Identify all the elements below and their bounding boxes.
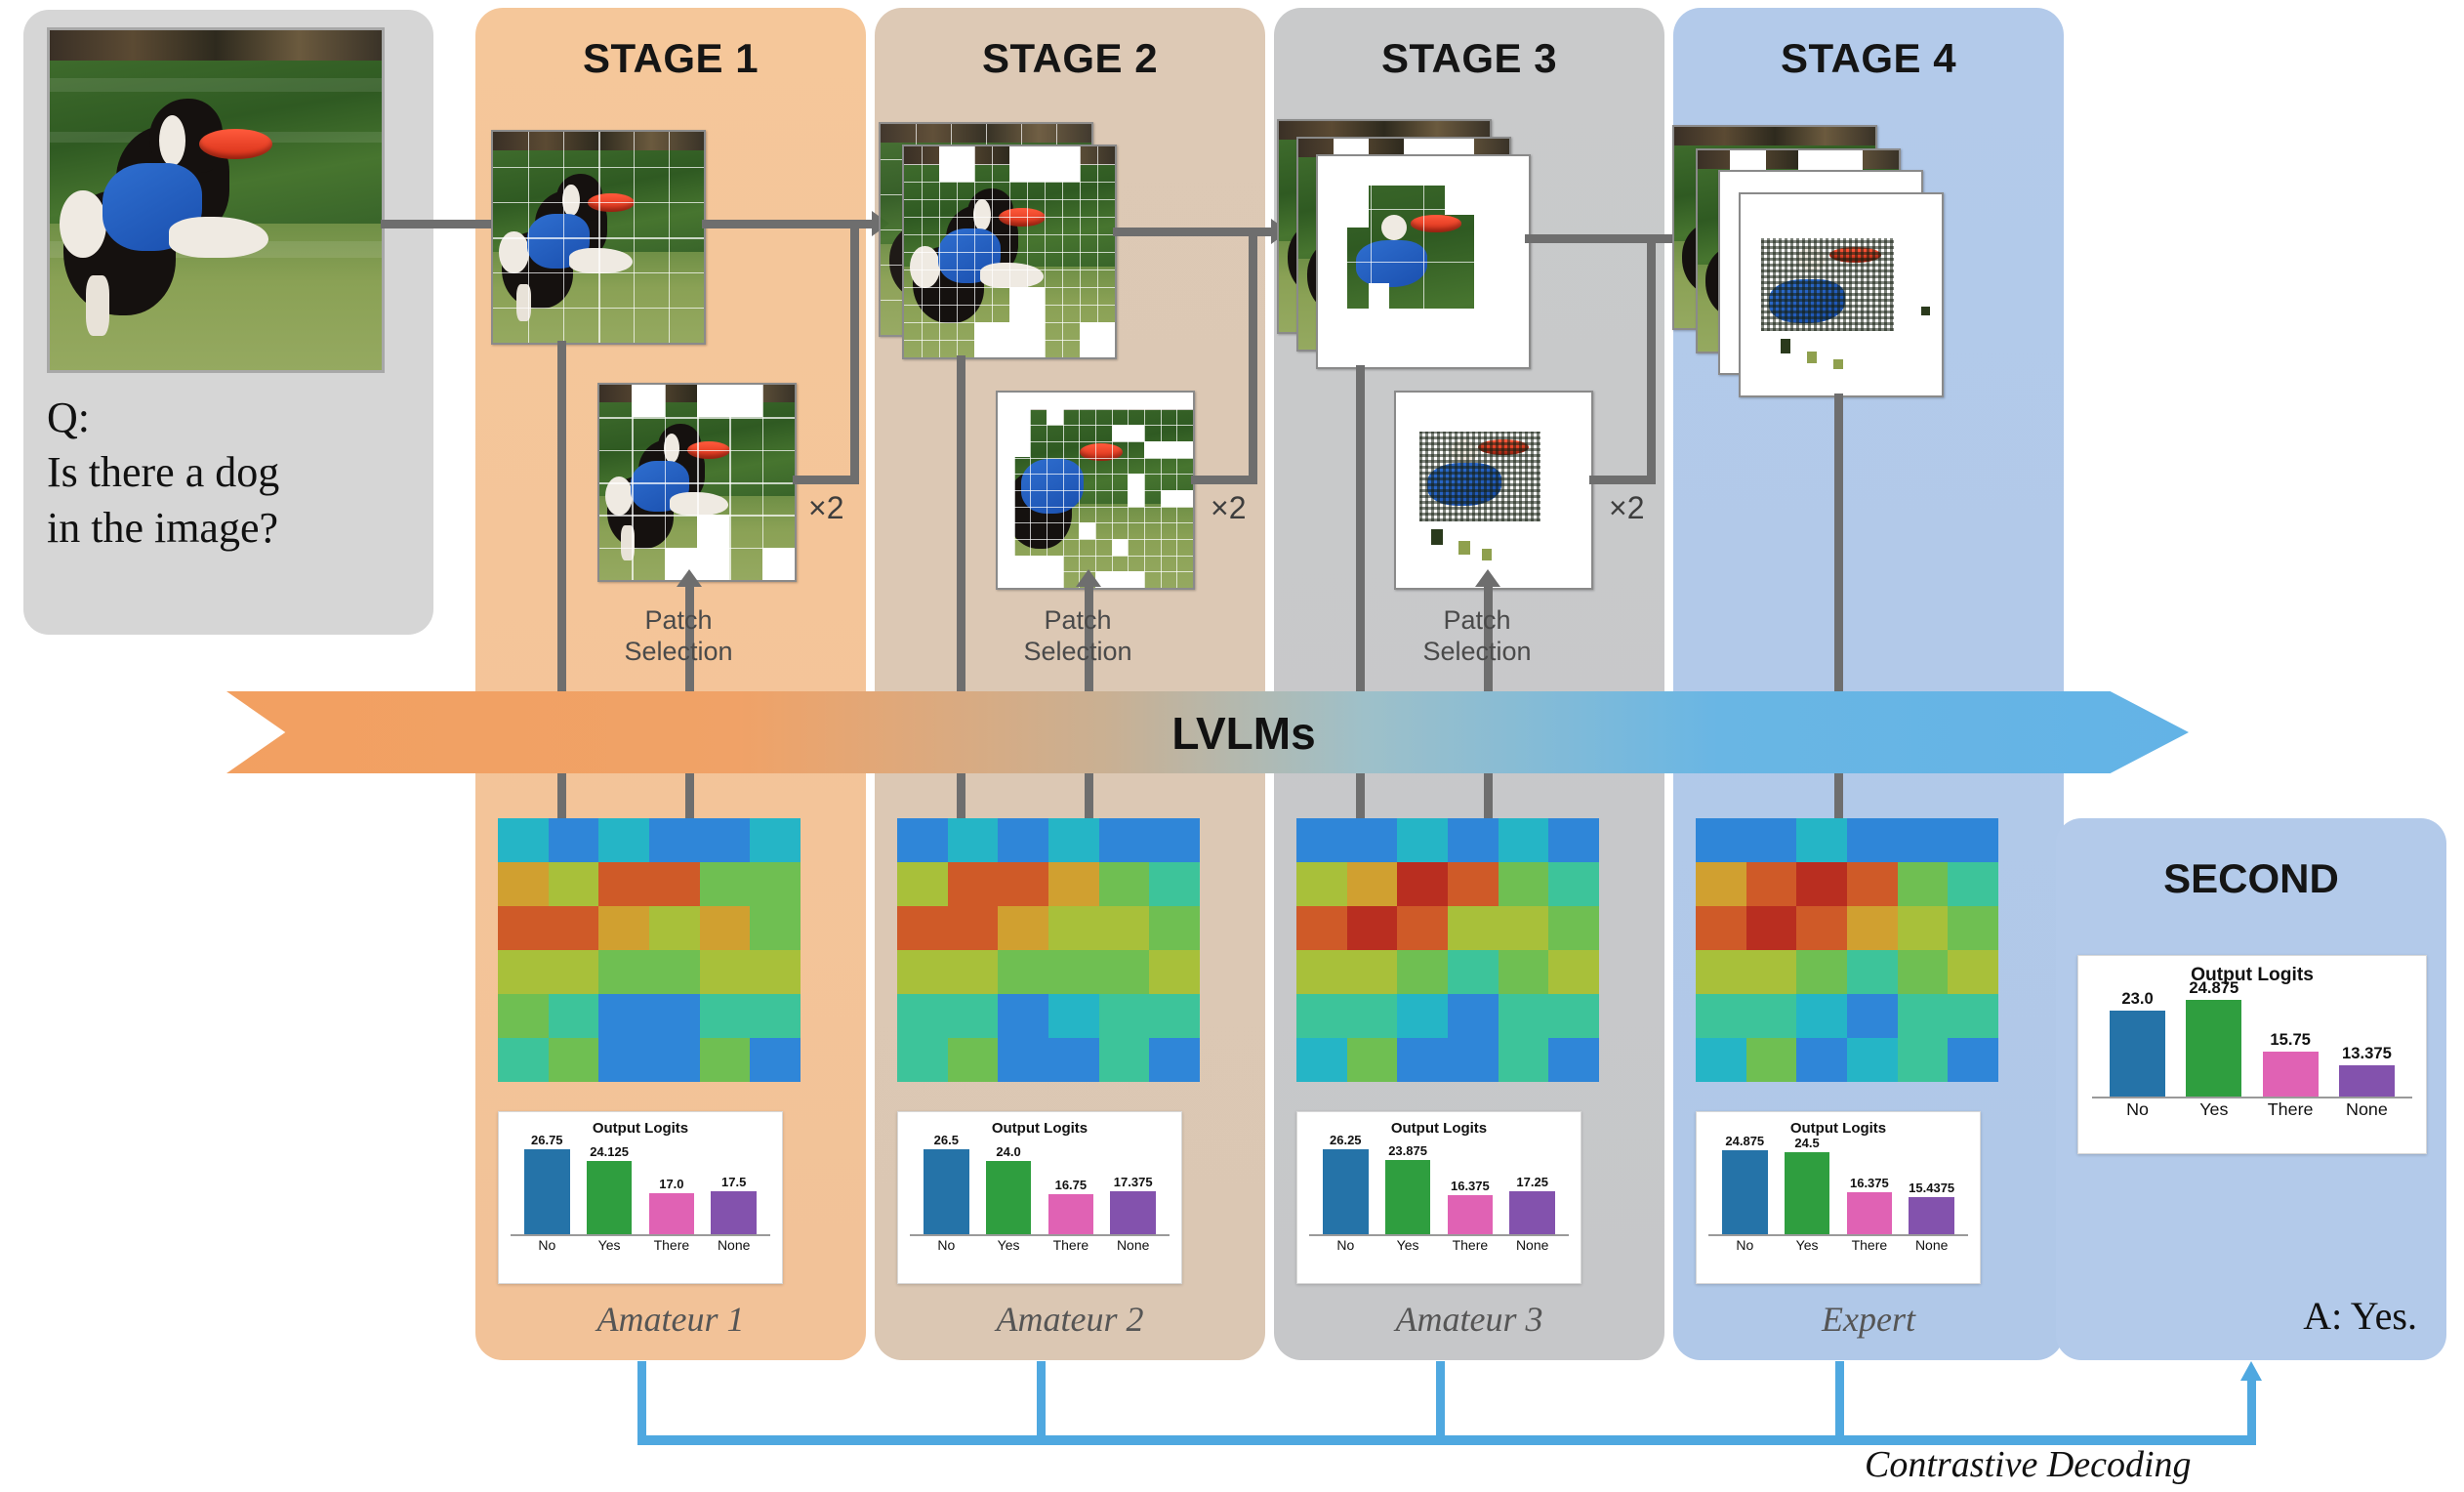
question-text: Q: Is there a dog in the image? [47, 391, 398, 556]
heatmap-cell [1746, 1038, 1797, 1082]
chart-axis [2092, 1097, 2412, 1098]
heatmap-cell [1048, 818, 1099, 862]
bar-value-label: 23.0 [2121, 989, 2153, 1009]
heatmap-cell [897, 1038, 948, 1082]
chart-category-label: None [1909, 1237, 1954, 1253]
heatmap-cell [750, 950, 801, 994]
chart-category-label: No [524, 1237, 570, 1253]
role-label-1: Amateur 1 [475, 1299, 866, 1340]
contrastive-tap-3 [1436, 1361, 1445, 1439]
heatmap-cell [1898, 862, 1949, 906]
heatmap-cell [998, 994, 1048, 1038]
chart-category-label: No [924, 1237, 969, 1253]
heatmap-cell [1847, 950, 1898, 994]
chart-category-label: There [2263, 1099, 2319, 1120]
chart-category-label: None [1110, 1237, 1156, 1253]
bar-value-label: 24.875 [1725, 1134, 1764, 1148]
heatmap-cell [998, 818, 1048, 862]
lvlm-label: LVLMs [226, 707, 2261, 760]
stage1-arrow-to-heatmap-a [557, 773, 566, 820]
stage1-arrow-to-heatmap-b [685, 773, 694, 820]
bar-value-label: 15.75 [2270, 1030, 2311, 1050]
bar-value-label: 24.125 [590, 1144, 629, 1159]
bar [986, 1161, 1032, 1234]
heatmap-cell [598, 994, 649, 1038]
heatmap-cell [1898, 818, 1949, 862]
bar-group: 24.0 [986, 1127, 1032, 1234]
bar-group: 16.375 [1847, 1127, 1893, 1234]
heatmap-cell [1448, 906, 1499, 950]
heatmap-cell [1296, 818, 1347, 862]
bar [2263, 1052, 2319, 1096]
chart-category-labels: NoYesThereNone [898, 1237, 1181, 1253]
bar [1909, 1197, 1954, 1234]
stage3-stem-down [1356, 365, 1365, 692]
heatmap-cell [1499, 950, 1549, 994]
bar-value-label: 17.375 [1114, 1175, 1153, 1189]
bar-group: 26.5 [924, 1127, 969, 1234]
heatmap-cell [1397, 994, 1448, 1038]
bar-group: 24.875 [1722, 1127, 1768, 1234]
chart-category-label: Yes [587, 1237, 633, 1253]
stage2-multiplier: ×2 [1211, 490, 1246, 526]
chart-bars: 26.2523.87516.37517.25 [1297, 1127, 1581, 1234]
stage2-attention-heatmap [897, 818, 1200, 1082]
role-label-4: Expert [1673, 1299, 2064, 1340]
heatmap-cell [998, 950, 1048, 994]
heatmap-cell [1397, 906, 1448, 950]
heatmap-cell [1796, 950, 1847, 994]
heatmap-cell [1347, 862, 1398, 906]
bar-value-label: 24.5 [1794, 1136, 1819, 1150]
bar-group: 13.375 [2339, 973, 2395, 1096]
stage1-attention-heatmap [498, 818, 801, 1082]
heatmap-cell [1948, 994, 1998, 1038]
heatmap-cell [549, 994, 599, 1038]
heatmap-cell [1499, 862, 1549, 906]
bar [2186, 1000, 2241, 1097]
bar-value-label: 17.0 [659, 1177, 683, 1191]
heatmap-cell [498, 1038, 549, 1082]
chart-category-label: Yes [986, 1237, 1032, 1253]
chart-category-label: There [649, 1237, 695, 1253]
stage4-stem-down [1834, 394, 1843, 692]
heatmap-cell [498, 950, 549, 994]
stage-title-4: STAGE 4 [1673, 35, 2064, 82]
heatmap-cell [1099, 1038, 1150, 1082]
heatmap-cell [948, 994, 999, 1038]
stage3-selected-patches [1394, 391, 1593, 590]
stage3-elbow-v [1647, 239, 1656, 484]
stage1-elbow-h [793, 476, 859, 484]
heatmap-cell [1548, 862, 1599, 906]
chart-category-labels: NoYesThereNone [1697, 1237, 1980, 1253]
heatmap-cell [1746, 950, 1797, 994]
heatmap-cell [1149, 862, 1200, 906]
question-line-1: Is there a dog [47, 445, 398, 500]
bar-value-label: 26.75 [531, 1133, 563, 1147]
heatmap-cell [1347, 906, 1398, 950]
bar-value-label: 17.25 [1516, 1175, 1548, 1189]
heatmap-cell [897, 818, 948, 862]
bar-group: 17.375 [1110, 1127, 1156, 1234]
role-label-3: Amateur 3 [1274, 1299, 1664, 1340]
bar-group: 23.875 [1385, 1127, 1431, 1234]
heatmap-cell [1796, 906, 1847, 950]
heatmap-cell [1796, 818, 1847, 862]
stage4-final-patches [1739, 192, 1944, 397]
stage2-stem-down [957, 355, 965, 692]
heatmap-cell [1796, 862, 1847, 906]
bar-group: 23.0 [2110, 973, 2165, 1096]
bar [1509, 1191, 1555, 1234]
heatmap-cell [498, 818, 549, 862]
heatmap-cell [1548, 1038, 1599, 1082]
chart-bars: 26.524.016.7517.375 [898, 1127, 1181, 1234]
heatmap-cell [1696, 994, 1746, 1038]
chart-category-label: Yes [1785, 1237, 1830, 1253]
bar-value-label: 26.5 [934, 1133, 959, 1147]
chart-bars: 24.87524.516.37515.4375 [1697, 1127, 1980, 1234]
heatmap-cell [1099, 862, 1150, 906]
heatmap-cell [1149, 818, 1200, 862]
heatmap-cell [598, 950, 649, 994]
heatmap-cell [1149, 950, 1200, 994]
bar-group: 24.125 [587, 1127, 633, 1234]
heatmap-cell [649, 818, 700, 862]
bar [1110, 1191, 1156, 1234]
contrastive-tap-2 [1037, 1361, 1046, 1439]
stage1-stem-down [557, 341, 566, 692]
heatmap-cell [1796, 994, 1847, 1038]
heatmap-cell [700, 950, 751, 994]
contrastive-tap-4 [1835, 1361, 1844, 1439]
chart-category-label: No [1323, 1237, 1369, 1253]
dog-frisbee-photo [50, 30, 382, 370]
bar [587, 1161, 633, 1234]
chart-category-label: No [2110, 1099, 2165, 1120]
stage2-arrow-to-heatmap-b [1085, 773, 1093, 820]
chart-axis [1309, 1234, 1570, 1236]
heatmap-cell [700, 862, 751, 906]
heatmap-cell [1898, 950, 1949, 994]
stage2-elbow-v [1249, 232, 1257, 484]
bar-value-label: 15.4375 [1909, 1181, 1954, 1195]
heatmap-cell [549, 862, 599, 906]
heatmap-cell [700, 818, 751, 862]
heatmap-cell [1847, 906, 1898, 950]
chart-category-labels: NoYesThereNone [2078, 1099, 2426, 1120]
heatmap-cell [598, 906, 649, 950]
chart-axis [511, 1234, 771, 1236]
heatmap-cell [1149, 1038, 1200, 1082]
chart-bars: 23.024.87515.7513.375 [2078, 973, 2426, 1096]
heatmap-cell [1048, 1038, 1099, 1082]
bar-value-label: 17.5 [721, 1175, 746, 1189]
heatmap-cell [1847, 862, 1898, 906]
heatmap-cell [948, 950, 999, 994]
bar-value-label: 26.25 [1330, 1133, 1362, 1147]
bar [1048, 1194, 1094, 1234]
stage2-arrow-to-heatmap-a [957, 773, 965, 820]
heatmap-cell [1948, 950, 1998, 994]
bar-group: 15.4375 [1909, 1127, 1954, 1234]
heatmap-cell [1448, 862, 1499, 906]
bar-group: 16.75 [1048, 1127, 1094, 1234]
heatmap-cell [948, 906, 999, 950]
arrow-stage1-to-stage2 [702, 220, 873, 228]
bar-group: 26.25 [1323, 1127, 1369, 1234]
bar-group: 24.5 [1785, 1127, 1830, 1234]
heatmap-cell [750, 818, 801, 862]
stage1-selected-patches [597, 383, 797, 582]
chart-card-amateur-2: Output Logits26.524.016.7517.375NoYesThe… [897, 1111, 1182, 1284]
heatmap-cell [1149, 994, 1200, 1038]
heatmap-cell [750, 906, 801, 950]
stage3-attention-heatmap [1296, 818, 1599, 1082]
stage2-elbow-h [1191, 476, 1257, 484]
heatmap-cell [750, 994, 801, 1038]
heatmap-cell [1149, 906, 1200, 950]
bar-value-label: 16.75 [1055, 1178, 1088, 1192]
heatmap-cell [1296, 1038, 1347, 1082]
heatmap-cell [1397, 862, 1448, 906]
contrastive-arrowhead [2240, 1361, 2262, 1381]
heatmap-cell [750, 1038, 801, 1082]
heatmap-cell [1099, 818, 1150, 862]
heatmap-cell [700, 906, 751, 950]
heatmap-cell [598, 818, 649, 862]
heatmap-cell [897, 950, 948, 994]
heatmap-cell [1746, 818, 1797, 862]
bar [1722, 1150, 1768, 1234]
chart-category-label: Yes [2186, 1099, 2241, 1120]
heatmap-cell [998, 906, 1048, 950]
stage4-arrow-to-heatmap [1834, 773, 1843, 820]
chart-category-label: Yes [1385, 1237, 1431, 1253]
contrastive-tap-1 [637, 1361, 646, 1439]
bar-group: 17.5 [711, 1127, 757, 1234]
bar-group: 17.25 [1509, 1127, 1555, 1234]
stage1-elbow-v [850, 225, 859, 484]
heatmap-cell [1296, 950, 1347, 994]
heatmap-cell [498, 906, 549, 950]
heatmap-cell [549, 906, 599, 950]
bar [924, 1149, 969, 1234]
heatmap-cell [1948, 1038, 1998, 1082]
bar-value-label: 23.875 [1388, 1143, 1427, 1158]
chart-category-labels: NoYesThereNone [1297, 1237, 1581, 1253]
heatmap-cell [649, 1038, 700, 1082]
bar-group: 17.0 [649, 1127, 695, 1234]
chart-card-amateur-3: Output Logits26.2523.87516.37517.25NoYes… [1296, 1111, 1581, 1284]
stage2-selected-patches [996, 391, 1195, 590]
stage-title-3: STAGE 3 [1274, 35, 1664, 82]
heatmap-cell [1048, 994, 1099, 1038]
chart-category-label: There [1048, 1237, 1094, 1253]
heatmap-cell [1847, 818, 1898, 862]
chart-category-label: There [1448, 1237, 1494, 1253]
bar-value-label: 24.0 [996, 1144, 1020, 1159]
second-answer: A: Yes. [2303, 1293, 2417, 1339]
heatmap-cell [1746, 862, 1797, 906]
question-prompt-label: Q: [47, 391, 398, 445]
heatmap-cell [1898, 1038, 1949, 1082]
stage-title-2: STAGE 2 [875, 35, 1265, 82]
role-label-2: Amateur 2 [875, 1299, 1265, 1340]
heatmap-cell [1696, 862, 1746, 906]
heatmap-cell [750, 862, 801, 906]
stage3-arrow-to-heatmap-b [1484, 773, 1493, 820]
heatmap-cell [1548, 950, 1599, 994]
question-line-2: in the image? [47, 501, 398, 556]
heatmap-cell [1296, 994, 1347, 1038]
heatmap-cell [1696, 906, 1746, 950]
heatmap-cell [1847, 994, 1898, 1038]
heatmap-cell [1397, 818, 1448, 862]
heatmap-cell [1296, 906, 1347, 950]
heatmap-cell [1499, 818, 1549, 862]
bar-group: 15.75 [2263, 973, 2319, 1096]
heatmap-cell [1448, 1038, 1499, 1082]
heatmap-cell [1898, 994, 1949, 1038]
heatmap-cell [1448, 950, 1499, 994]
heatmap-cell [1847, 1038, 1898, 1082]
heatmap-cell [1548, 994, 1599, 1038]
heatmap-cell [1948, 862, 1998, 906]
stage3-elbow-h [1589, 476, 1656, 484]
heatmap-cell [897, 906, 948, 950]
stage3-patch-selection-label: Patch Selection [1404, 605, 1550, 668]
heatmap-cell [549, 950, 599, 994]
heatmap-cell [1448, 994, 1499, 1038]
heatmap-cell [700, 994, 751, 1038]
bar [711, 1191, 757, 1234]
heatmap-cell [1796, 1038, 1847, 1082]
chart-axis [1708, 1234, 1969, 1236]
chart-category-label: None [2339, 1099, 2395, 1120]
stage4-attention-heatmap [1696, 818, 1998, 1082]
heatmap-cell [897, 862, 948, 906]
stage3-arrow-to-heatmap-a [1356, 773, 1365, 820]
heatmap-cell [649, 994, 700, 1038]
chart-category-label: There [1847, 1237, 1893, 1253]
bar-value-label: 13.375 [2342, 1044, 2392, 1063]
bar [649, 1193, 695, 1234]
chart-bars: 26.7524.12517.017.5 [499, 1127, 782, 1234]
bar-group: 26.75 [524, 1127, 570, 1234]
contrastive-tap-out [2247, 1379, 2256, 1439]
bar [1785, 1152, 1830, 1234]
second-title: SECOND [2056, 855, 2446, 902]
heatmap-cell [998, 862, 1048, 906]
heatmap-cell [1347, 818, 1398, 862]
stage3-multiplier: ×2 [1609, 490, 1644, 526]
heatmap-cell [1099, 950, 1150, 994]
bar [1385, 1160, 1431, 1233]
heatmap-cell [1397, 950, 1448, 994]
heatmap-cell [1099, 906, 1150, 950]
heatmap-cell [1296, 862, 1347, 906]
contrastive-decoding-label: Contrastive Decoding [1865, 1443, 2192, 1486]
bar-value-label: 24.875 [2189, 978, 2238, 998]
heatmap-cell [1696, 950, 1746, 994]
bar [524, 1149, 570, 1234]
heatmap-cell [1696, 818, 1746, 862]
stage-title-1: STAGE 1 [475, 35, 866, 82]
heatmap-cell [498, 862, 549, 906]
heatmap-cell [1347, 950, 1398, 994]
chart-category-label: No [1722, 1237, 1768, 1253]
heatmap-cell [1696, 1038, 1746, 1082]
heatmap-cell [948, 862, 999, 906]
heatmap-cell [1448, 818, 1499, 862]
heatmap-cell [1397, 1038, 1448, 1082]
heatmap-cell [549, 1038, 599, 1082]
stage1-patch-selection-label: Patch Selection [605, 605, 752, 668]
heatmap-cell [897, 994, 948, 1038]
heatmap-cell [598, 1038, 649, 1082]
chart-card-expert: Output Logits24.87524.516.37515.4375NoYe… [1696, 1111, 1981, 1284]
chart-card-second: Output Logits23.024.87515.7513.375NoYesT… [2077, 955, 2427, 1154]
heatmap-cell [1347, 1038, 1398, 1082]
bar-group: 24.875 [2186, 973, 2241, 1096]
stage2-patch-selection-label: Patch Selection [1005, 605, 1151, 668]
heatmap-cell [1898, 906, 1949, 950]
heatmap-cell [1746, 906, 1797, 950]
chart-category-labels: NoYesThereNone [499, 1237, 782, 1253]
heatmap-cell [1499, 1038, 1549, 1082]
heatmap-cell [1499, 906, 1549, 950]
heatmap-cell [700, 1038, 751, 1082]
heatmap-cell [598, 862, 649, 906]
arrow-input-to-stage1 [381, 220, 508, 228]
chart-card-amateur-1: Output Logits26.7524.12517.017.5NoYesThe… [498, 1111, 783, 1284]
bar [1847, 1192, 1893, 1234]
heatmap-cell [549, 818, 599, 862]
bar [1323, 1149, 1369, 1234]
lvlm-banner: LVLMs [226, 691, 2261, 773]
heatmap-cell [1746, 994, 1797, 1038]
bar-value-label: 16.375 [1850, 1176, 1889, 1190]
chart-category-label: None [711, 1237, 757, 1253]
bar-value-label: 16.375 [1451, 1179, 1490, 1193]
heatmap-cell [1548, 818, 1599, 862]
stage2-image-grid [902, 145, 1117, 359]
heatmap-cell [948, 1038, 999, 1082]
bar [2110, 1011, 2165, 1097]
chart-category-label: None [1509, 1237, 1555, 1253]
heatmap-cell [1548, 906, 1599, 950]
bar [2339, 1065, 2395, 1096]
heatmap-cell [1099, 994, 1150, 1038]
stage1-image-grid [491, 130, 706, 345]
heatmap-cell [498, 994, 549, 1038]
heatmap-cell [1948, 906, 1998, 950]
heatmap-cell [1048, 862, 1099, 906]
heatmap-cell [649, 862, 700, 906]
heatmap-cell [649, 950, 700, 994]
stage1-multiplier: ×2 [808, 490, 843, 526]
chart-axis [910, 1234, 1170, 1236]
heatmap-cell [1948, 818, 1998, 862]
heatmap-cell [1499, 994, 1549, 1038]
heatmap-cell [1048, 950, 1099, 994]
heatmap-cell [998, 1038, 1048, 1082]
bar-group: 16.375 [1448, 1127, 1494, 1234]
heatmap-cell [649, 906, 700, 950]
input-image [47, 27, 385, 373]
